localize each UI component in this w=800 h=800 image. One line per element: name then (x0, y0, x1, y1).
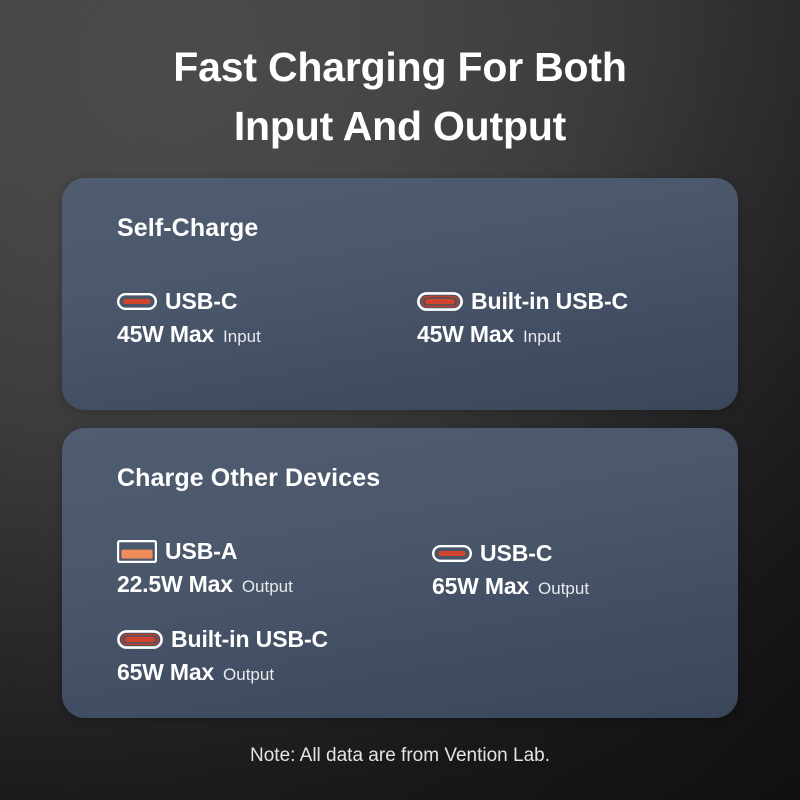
spec-value: 45W Max Input (417, 321, 628, 348)
spec-name: USB-A (165, 538, 237, 565)
spec-direction: Output (242, 577, 293, 597)
footer-note: Note: All data are from Vention Lab. (0, 745, 800, 767)
spec-header: USB-A (117, 538, 293, 565)
card-charge-other-devices-title: Charge Other Devices (117, 464, 380, 493)
spec-header: Built-in USB-C (417, 288, 628, 315)
spec-wattage: 65W Max (432, 573, 529, 600)
spec-value: 65W Max Output (432, 573, 589, 600)
spec-name: USB-C (165, 288, 237, 315)
spec-direction: Input (223, 327, 261, 347)
usb-c-icon (117, 293, 157, 310)
usb-c-builtin-icon (117, 630, 163, 649)
page-title-line-1: Fast Charging For Both (173, 44, 626, 90)
spec-wattage: 45W Max (417, 321, 514, 348)
spec-wattage: 65W Max (117, 659, 214, 686)
usb-a-icon (117, 540, 157, 563)
spec-value: 45W Max Input (117, 321, 261, 348)
spec-other-usb-a: USB-A 22.5W Max Output (117, 538, 293, 598)
spec-header: USB-C (432, 540, 589, 567)
spec-self-builtin-usb-c: Built-in USB-C 45W Max Input (417, 288, 628, 348)
spec-other-usb-c: USB-C 65W Max Output (432, 540, 589, 600)
card-self-charge: Self-Charge USB-C 45W Max Input (62, 178, 738, 410)
usb-c-builtin-icon (417, 292, 463, 311)
usb-c-icon (432, 545, 472, 562)
spec-name: Built-in USB-C (171, 626, 328, 653)
card-self-charge-title: Self-Charge (117, 214, 258, 243)
spec-wattage: 22.5W Max (117, 571, 233, 598)
spec-header: USB-C (117, 288, 261, 315)
spec-name: Built-in USB-C (471, 288, 628, 315)
promo-page: Fast Charging For Both Input And Output … (0, 0, 800, 800)
spec-value: 22.5W Max Output (117, 571, 293, 598)
spec-wattage: 45W Max (117, 321, 214, 348)
spec-direction: Input (523, 327, 561, 347)
spec-self-usb-c: USB-C 45W Max Input (117, 288, 261, 348)
page-title-line-2: Input And Output (0, 97, 800, 156)
card-charge-other-devices: Charge Other Devices USB-A 22.5W Max Out… (62, 428, 738, 718)
spec-value: 65W Max Output (117, 659, 328, 686)
spec-other-builtin-usb-c: Built-in USB-C 65W Max Output (117, 626, 328, 686)
spec-direction: Output (538, 579, 589, 599)
spec-direction: Output (223, 665, 274, 685)
spec-name: USB-C (480, 540, 552, 567)
spec-header: Built-in USB-C (117, 626, 328, 653)
page-title: Fast Charging For Both Input And Output (0, 38, 800, 157)
